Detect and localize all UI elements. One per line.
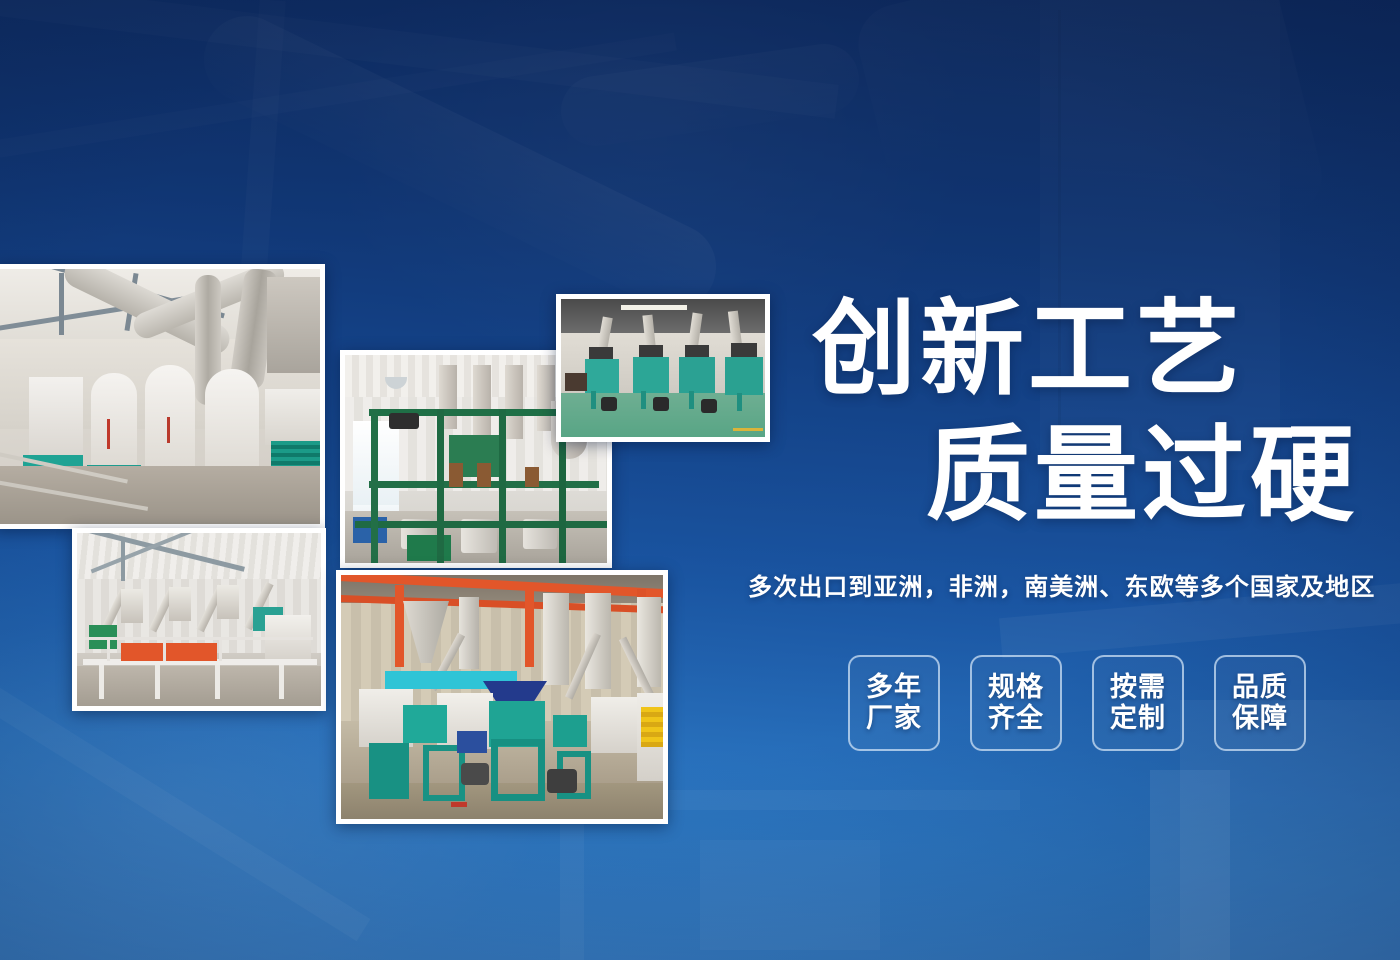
- badge-line-2: 保障: [1232, 703, 1288, 734]
- badge-line-2: 厂家: [866, 703, 922, 734]
- badge-line-2: 定制: [1110, 703, 1166, 734]
- badge-line-1: 多年: [866, 672, 922, 703]
- badge-custom-on-demand[interactable]: 按需 定制: [1092, 655, 1184, 751]
- badge-many-years-manufacturer[interactable]: 多年 厂家: [848, 655, 940, 751]
- badge-line-1: 品质: [1232, 672, 1288, 703]
- badge-line-1: 按需: [1110, 672, 1166, 703]
- banner-subtitle: 多次出口到亚洲，非洲，南美洲、东欧等多个国家及地区: [748, 567, 1398, 602]
- headline-line-2: 质量过硬: [926, 424, 1358, 528]
- promo-banner: 创新工艺 质量过硬 多次出口到亚洲，非洲，南美洲、东欧等多个国家及地区 多年 厂…: [0, 0, 1400, 960]
- badge-line-2: 齐全: [988, 703, 1044, 734]
- badge-quality-guarantee[interactable]: 品质 保障: [1214, 655, 1306, 751]
- headline-line-1: 创新工艺: [812, 298, 1244, 402]
- text-block: 创新工艺 质量过硬 多次出口到亚洲，非洲，南美洲、东欧等多个国家及地区 多年 厂…: [0, 0, 1400, 960]
- badge-full-specifications[interactable]: 规格 齐全: [970, 655, 1062, 751]
- feature-badge-list: 多年 厂家 规格 齐全 按需 定制 品质 保障: [848, 655, 1306, 751]
- badge-line-1: 规格: [988, 672, 1044, 703]
